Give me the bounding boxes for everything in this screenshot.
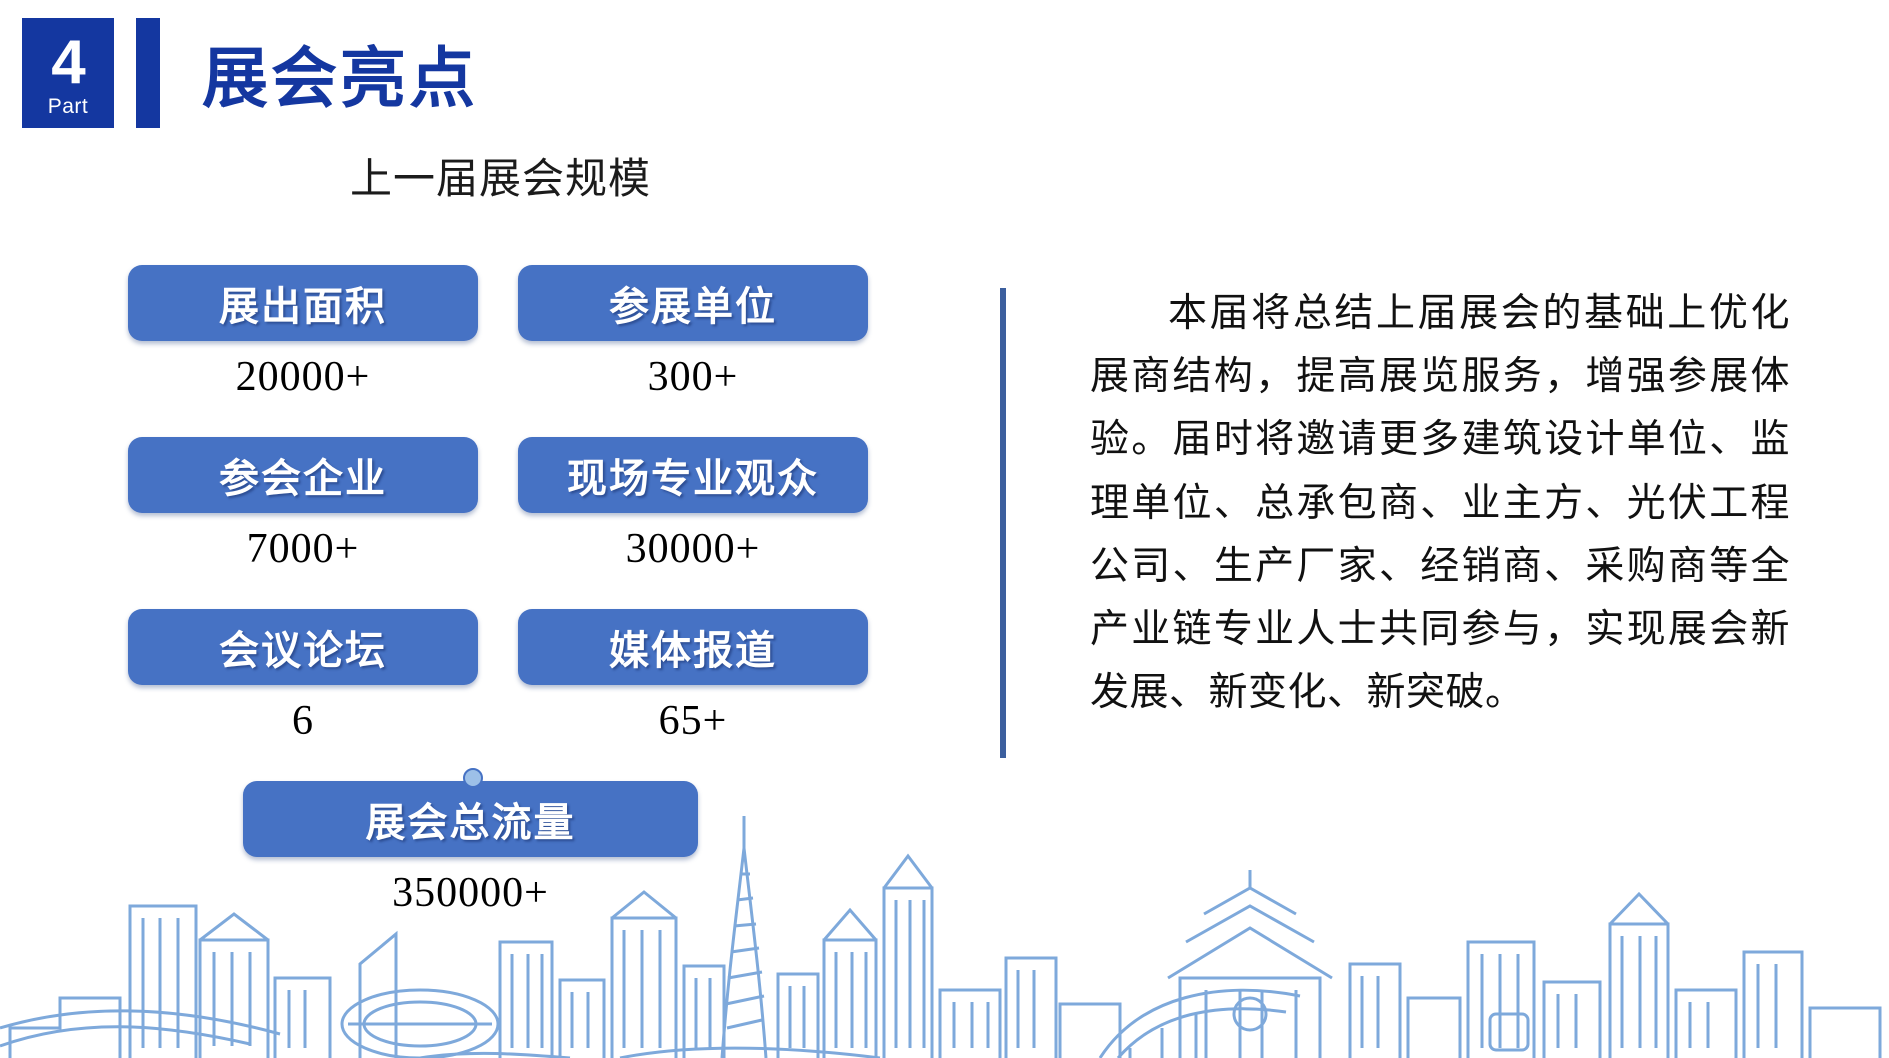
stat-value: 350000+ xyxy=(243,869,698,917)
stat-item-exhibition-area: 展出面积 20000+ xyxy=(128,265,478,415)
stat-value: 65+ xyxy=(518,697,868,745)
part-word: Part xyxy=(48,96,89,117)
page-title: 展会亮点 xyxy=(202,25,478,121)
stat-pill: 参会企业 xyxy=(128,437,478,513)
stat-pill: 参展单位 xyxy=(518,265,868,341)
stat-label: 展出面积 xyxy=(219,274,387,332)
stat-label: 现场专业观众 xyxy=(567,446,819,504)
stat-value: 20000+ xyxy=(128,353,478,401)
stat-value: 6 xyxy=(128,697,478,745)
stat-item-participating-companies: 参会企业 7000+ xyxy=(128,437,478,587)
stat-label: 展会总流量 xyxy=(366,790,576,848)
stats-grid: 展出面积 20000+ 参展单位 300+ 参会企业 7000+ 现场专业观众 xyxy=(128,265,888,931)
stat-pill: 会议论坛 xyxy=(128,609,478,685)
header-accent-bar xyxy=(136,18,160,128)
stat-value: 7000+ xyxy=(128,525,478,573)
stat-item-media-coverage: 媒体报道 65+ xyxy=(518,609,868,759)
rotation-handle-icon[interactable] xyxy=(463,768,483,788)
part-badge: 4 Part xyxy=(22,18,114,128)
stat-label: 参展单位 xyxy=(609,274,777,332)
stats-row: 展出面积 20000+ 参展单位 300+ xyxy=(128,265,888,415)
stat-value: 30000+ xyxy=(518,525,868,573)
stats-row: 参会企业 7000+ 现场专业观众 30000+ xyxy=(128,437,888,587)
stat-item-forums: 会议论坛 6 xyxy=(128,609,478,759)
stat-item-total-traffic: 展会总流量 350000+ xyxy=(243,781,698,917)
stat-label: 会议论坛 xyxy=(219,618,387,676)
stat-pill: 现场专业观众 xyxy=(518,437,868,513)
stat-item-exhibitors: 参展单位 300+ xyxy=(518,265,868,415)
stat-pill: 媒体报道 xyxy=(518,609,868,685)
stat-label: 参会企业 xyxy=(219,446,387,504)
section-subtitle: 上一届展会规模 xyxy=(350,145,651,206)
vertical-divider xyxy=(1000,288,1006,758)
slide-header: 4 Part 展会亮点 xyxy=(22,18,478,128)
slide-canvas: 4 Part 展会亮点 上一届展会规模 展出面积 20000+ 参展单位 300… xyxy=(0,0,1889,1058)
stat-label: 媒体报道 xyxy=(609,618,777,676)
description-paragraph: 本届将总结上届展会的基础上优化展商结构，提高展览服务，增强参展体验。届时将邀请更… xyxy=(1090,282,1790,724)
stat-value: 300+ xyxy=(518,353,868,401)
stats-row: 会议论坛 6 媒体报道 65+ xyxy=(128,609,888,759)
stat-pill-total: 展会总流量 xyxy=(243,781,698,857)
part-number: 4 xyxy=(51,32,84,94)
stat-item-professional-visitors: 现场专业观众 30000+ xyxy=(518,437,868,587)
stat-pill: 展出面积 xyxy=(128,265,478,341)
